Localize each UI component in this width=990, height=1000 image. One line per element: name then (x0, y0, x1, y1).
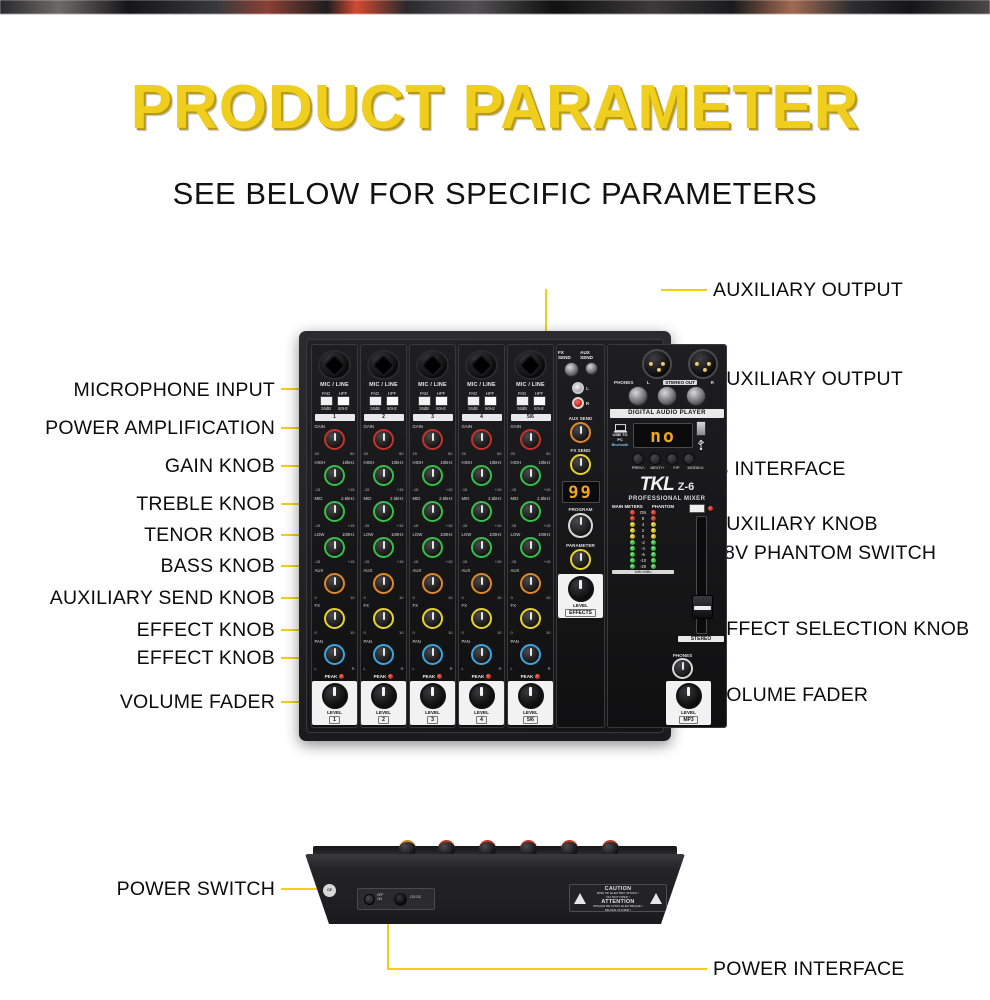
fx-max: 10 (350, 630, 354, 635)
xlr-output-left[interactable] (642, 349, 672, 379)
combo-jack-icon[interactable] (465, 350, 498, 380)
pad-hpf-buttons[interactable]: PAD26dB HPF80Hz (368, 391, 399, 411)
peak-label: PEAK (325, 674, 338, 679)
callout-effect-knob-1: EFFECT KNOB (30, 619, 275, 642)
meter-led-icon (630, 540, 635, 545)
pad-hpf-buttons[interactable]: PAD 26dB HPF 80Hz (319, 391, 350, 411)
meter-row: 0 (612, 534, 674, 539)
gain-label: GAIN (315, 424, 326, 429)
player-display: no (633, 423, 693, 448)
pan-label: PAN (315, 639, 324, 644)
product-parameter-page: PRODUCT PARAMETER SEE BELOW FOR SPECIFIC… (0, 0, 990, 1000)
high-eq-knob[interactable] (471, 465, 492, 486)
meter-led-icon (630, 516, 635, 521)
meter-led-icon (630, 558, 635, 563)
gain-min: 20 (315, 451, 319, 456)
pad-switch[interactable]: PAD26dB (515, 391, 529, 411)
mixer-top-panel[interactable]: MIC / LINE PAD 26dB HPF 80Hz 1 GAIN (299, 331, 671, 741)
level-knob[interactable] (518, 683, 544, 709)
main-meters-label: MAIN METERS (612, 504, 643, 509)
meter-led-icon (630, 534, 635, 539)
next-label: NEXT/+ (649, 465, 666, 470)
meter-led-icon (630, 552, 635, 557)
high-eq-knob[interactable] (324, 465, 345, 486)
mid-eq-knob-wrap[interactable]: MID2.5kHz-15+15 (363, 496, 405, 529)
gain-knob[interactable] (324, 429, 345, 450)
usb-port-icon[interactable] (696, 421, 706, 436)
prev-button[interactable] (632, 453, 644, 465)
parameter-knob[interactable] (570, 549, 591, 570)
gain-knob[interactable] (422, 429, 443, 450)
meter-scale-label: -6 (637, 552, 649, 557)
mid-eq-knob-wrap[interactable]: MID2.5kHz-15+15 (510, 496, 552, 529)
gain-max: 50 (350, 451, 354, 456)
hpf-button-cap[interactable] (435, 396, 448, 406)
aux-send-knob[interactable] (471, 573, 492, 594)
hpf-switch[interactable]: HPF 80Hz (336, 391, 350, 411)
pan-knob[interactable] (373, 644, 394, 665)
meter-row: -4 (612, 546, 674, 551)
meter-led-icon (651, 510, 656, 515)
high-freq: 10kHz (342, 460, 354, 465)
pad-button-cap[interactable] (320, 396, 333, 406)
meter-led-icon (651, 516, 656, 521)
dc-input-label: 12V DC (410, 895, 421, 899)
callout-effect-knob-2: EFFECT KNOB (30, 647, 275, 670)
gain-knob-wrap[interactable]: GAIN2050 (363, 424, 405, 457)
xlr-output-right[interactable] (688, 349, 718, 379)
master-aux-send[interactable]: AUX SEND (569, 416, 593, 443)
send-jack-labels: FX SEND AUX SEND (558, 348, 603, 360)
peak-indicator: PEAK (472, 674, 492, 679)
mid-eq-knob[interactable] (422, 501, 443, 522)
pad-hpf-buttons[interactable]: PAD26dB HPF80Hz (515, 391, 546, 411)
high-eq-knob-wrap[interactable]: HIGH10kHz-15+15 (510, 460, 552, 493)
meter-led-icon (651, 534, 656, 539)
phones-jack[interactable] (628, 386, 648, 406)
callout-auxiliary-output-2: AUXILIARY OUTPUT (713, 368, 903, 391)
fx-knob[interactable] (324, 608, 345, 629)
brand-subtitle: PROFESSIONAL MIXER (610, 496, 724, 502)
callout-treble-knob: TREBLE KNOB (30, 493, 275, 516)
callout-volume-fader-left: VOLUME FADER (30, 691, 275, 714)
program-selector-knob[interactable] (568, 513, 593, 538)
low-eq-knob[interactable] (324, 537, 345, 558)
high-eq-knob[interactable] (373, 465, 394, 486)
aux-send-knob[interactable] (520, 573, 541, 594)
mid-eq-knob[interactable] (373, 501, 394, 522)
meter-led-icon (630, 522, 635, 527)
meter-led-icon (651, 522, 656, 527)
gain-knob[interactable] (471, 429, 492, 450)
meter-row: -10 (612, 558, 674, 563)
pad-switch[interactable]: PAD26dB (417, 391, 431, 411)
power-on-label: ON (377, 897, 383, 901)
level-fader-3[interactable]: LEVEL3 (410, 681, 455, 725)
usb-symbol-icon (696, 438, 706, 450)
fx-knob-wrap[interactable]: FX010 (510, 603, 552, 636)
low-eq-knob[interactable] (422, 537, 443, 558)
level-fader-2[interactable]: LEVEL2 (361, 681, 406, 725)
meter-led-icon (630, 510, 635, 515)
meter-scale-label: 4 (637, 522, 649, 527)
meter-led-icon (651, 552, 656, 557)
pan-knob[interactable] (324, 644, 345, 665)
meter-scale-label: -10 (637, 558, 649, 563)
stereo-out-left-jack[interactable] (657, 386, 677, 406)
peak-indicator: PEAK (423, 674, 443, 679)
master-fx-send[interactable]: FX SEND (570, 448, 591, 475)
stereo-out-right-jack[interactable] (686, 386, 706, 406)
combo-jack-icon[interactable] (318, 350, 351, 380)
next-button[interactable] (649, 453, 661, 465)
sends-column[interactable]: FX SEND AUX SEND L R AUX SEND (556, 344, 605, 728)
gain-knob[interactable] (373, 429, 394, 450)
bluetooth-label: Bluetooth (612, 443, 629, 447)
effect-program-display: 99 (562, 481, 600, 503)
low-min: -15 (315, 559, 321, 564)
mode-button[interactable] (683, 453, 695, 465)
master-aux-send-knob[interactable] (570, 422, 591, 443)
pan-knob[interactable] (471, 644, 492, 665)
program-label: PROGRAM (569, 507, 593, 512)
level-knob[interactable] (676, 683, 702, 709)
gain-knob-wrap[interactable]: GAIN2050 (412, 424, 454, 457)
fx-send-label: FX SEND (558, 350, 577, 360)
level-strip-name: MP3 (679, 716, 697, 724)
fx-knob-wrap[interactable]: FX 010 (314, 603, 356, 636)
phantom-switch[interactable] (678, 504, 724, 513)
usb-to-pc[interactable]: USB TO PC Bluetooth (610, 424, 630, 446)
stereo-fader-cap[interactable] (692, 595, 713, 619)
level-fader-1[interactable]: LEVEL 1 (312, 681, 357, 725)
brand-block: TKL Z-6 (610, 474, 724, 496)
fp-label: F/P (668, 465, 685, 470)
low-eq-knob[interactable] (520, 537, 541, 558)
phones-knob-group[interactable]: PHONES (672, 653, 693, 679)
pan-knob[interactable] (520, 644, 541, 665)
meter-scale-label: 2 (637, 528, 649, 533)
aux-knob-wrap[interactable]: AUX010 (461, 568, 503, 601)
mid-eq-knob-wrap[interactable]: MID2.5kHz-15+15 (412, 496, 454, 529)
aux-knob-wrap[interactable]: AUX010 (412, 568, 454, 601)
hpf-button-cap[interactable] (386, 396, 399, 406)
channel-strip-2[interactable]: MIC / LINE PAD26dB HPF80Hz 2 GAIN2050 HI… (360, 344, 407, 728)
pad-switch[interactable]: PAD26dB (368, 391, 382, 411)
pan-knob[interactable] (422, 644, 443, 665)
high-eq-knob-wrap[interactable]: HIGH10kHz-15+15 (412, 460, 454, 493)
master-fx-send-knob[interactable] (570, 454, 591, 475)
low-freq: 100Hz (342, 532, 354, 537)
level-strip-name: 5/6 (523, 716, 538, 724)
meter-scale-label: 8 (637, 516, 649, 521)
high-eq-knob-wrap[interactable]: HIGH10kHz -15+15 (314, 460, 356, 493)
rear-panel-body: CE OFF ON 12V DC CAUTION RISK OF ELECTRI… (305, 854, 685, 924)
low-eq-knob-wrap[interactable]: LOW100Hz-15+15 (510, 532, 552, 565)
mp3-level-fader[interactable]: LEVEL MP3 (666, 681, 711, 725)
attention-line2: NE PAS OUVRIR ! (570, 909, 666, 913)
channel-strip-4[interactable]: MIC / LINE PAD26dB HPF80Hz 4 GAIN2050 HI… (458, 344, 505, 728)
prev-label: PREV/- (630, 465, 647, 470)
aux-knob-wrap[interactable]: AUX010 (510, 568, 552, 601)
fx-knob[interactable] (373, 608, 394, 629)
level-knob[interactable] (420, 683, 446, 709)
mid-eq-knob[interactable] (520, 501, 541, 522)
warning-triangle-icon (650, 893, 662, 904)
brand-logo: TKL (640, 474, 674, 496)
combo-jack-icon[interactable] (514, 350, 547, 380)
high-min: -15 (315, 487, 321, 492)
stereo-fader-track[interactable] (696, 516, 707, 634)
aux-send-knob[interactable] (422, 573, 443, 594)
callout-effect-selection-knob: EFFECT SELECTION KNOB (713, 618, 969, 641)
phones-knob[interactable] (672, 658, 693, 679)
callout-power-amplification: POWER AMPLIFICATION (10, 417, 275, 440)
level-knob[interactable] (469, 683, 495, 709)
meter-led-icon (651, 540, 656, 545)
callout-microphone-input: MICROPHONE INPUT (20, 379, 275, 402)
gain-knob-wrap[interactable]: GAIN2050 (461, 424, 503, 457)
power-plate[interactable]: OFF ON 12V DC (357, 888, 435, 910)
pad-button-cap[interactable] (369, 396, 382, 406)
mode-label: MODE/U (687, 465, 704, 470)
low-eq-knob[interactable] (471, 537, 492, 558)
high-eq-knob-wrap[interactable]: HIGH10kHz-15+15 (461, 460, 503, 493)
gain-knob-wrap[interactable]: GAIN 2050 (314, 424, 356, 457)
callout-tenor-knob: TENOR KNOB (30, 524, 275, 547)
meter-led-icon (651, 558, 656, 563)
mid-max: +15 (348, 523, 355, 528)
channel-number: 2 (364, 414, 404, 421)
aux-send-knob[interactable] (324, 573, 345, 594)
fx-knob-wrap[interactable]: FX010 (461, 603, 503, 636)
low-eq-knob-wrap[interactable]: LOW100Hz-15+15 (412, 532, 454, 565)
fx-knob-wrap[interactable]: FX010 (363, 603, 405, 636)
level-fader-4[interactable]: LEVEL4 (459, 681, 504, 725)
pad-hpf-buttons[interactable]: PAD26dB HPF80Hz (466, 391, 497, 411)
phantom-switch-cap[interactable] (689, 504, 705, 513)
rca-right-jack[interactable] (572, 397, 584, 409)
meter-row: 8 (612, 516, 674, 521)
impedance-label: 3dB=0dBu (612, 570, 674, 574)
meter-row: 4 (612, 522, 674, 527)
warning-triangle-icon (574, 893, 586, 904)
combo-jack-icon[interactable] (416, 350, 449, 380)
channel-number: 4 (462, 414, 502, 421)
peak-indicator: PEAK (521, 674, 541, 679)
aux-knob-wrap[interactable]: AUX010 (363, 568, 405, 601)
level-strip-name: 2 (378, 716, 389, 724)
hpf-button-cap[interactable] (533, 396, 546, 406)
meter-scale-label: -2 (637, 540, 649, 545)
meter-led-icon (630, 564, 635, 569)
pad-switch[interactable]: PAD 26dB (319, 391, 333, 411)
fp-button[interactable] (666, 453, 678, 465)
low-eq-knob[interactable] (373, 537, 394, 558)
rca-right-label: R (586, 401, 589, 406)
aux-send-jack[interactable] (585, 362, 598, 375)
model-name: Z-6 (678, 481, 695, 493)
high-label: HIGH (315, 460, 326, 465)
hpf-button-cap[interactable] (337, 396, 350, 406)
main-meters: MAIN METERS PHANTOM ON 8420-2-4-6-10-20 … (612, 504, 674, 642)
mic-line-label: MIC / LINE (418, 382, 447, 388)
page-title: PRODUCT PARAMETER (0, 72, 990, 143)
mid-freq: 2.5kHz (341, 496, 354, 501)
leader-power-interface-h (387, 968, 707, 970)
meter-led-icon (651, 546, 656, 551)
pad-switch[interactable]: PAD26dB (466, 391, 480, 411)
pad-button-cap[interactable] (516, 396, 529, 406)
peak-led-icon (437, 674, 442, 679)
high-eq-knob[interactable] (422, 465, 443, 486)
meter-scale-label: -4 (637, 546, 649, 551)
hpf-switch[interactable]: HPF80Hz (434, 391, 448, 411)
xlr-left-label: L (647, 380, 650, 385)
aux-send-knob[interactable] (373, 573, 394, 594)
low-eq-knob-wrap[interactable]: LOW100Hz-15+15 (363, 532, 405, 565)
callout-phantom-switch: 48V PHANTOM SWITCH (713, 542, 936, 565)
rca-left-jack[interactable] (572, 382, 584, 394)
meter-led-icon (651, 564, 656, 569)
ce-mark-icon: CE (323, 884, 336, 897)
low-max: +15 (348, 559, 355, 564)
aux-label: AUX (315, 568, 324, 573)
mic-line-label: MIC / LINE (516, 382, 545, 388)
fx-knob[interactable] (422, 608, 443, 629)
mic-line-label: MIC / LINE (320, 382, 349, 388)
rca-left-label: L (586, 386, 589, 391)
pan-min: L (315, 666, 317, 671)
meter-led-icon (651, 528, 656, 533)
peak-led-icon (388, 674, 393, 679)
aux-knob-wrap[interactable]: AUX 010 (314, 568, 356, 601)
high-eq-knob-wrap[interactable]: HIGH10kHz-15+15 (363, 460, 405, 493)
phones-label: PHONES (614, 380, 633, 385)
mic-line-label: MIC / LINE (467, 382, 496, 388)
phantom-led-icon (708, 506, 713, 511)
combo-jack-icon[interactable] (367, 350, 400, 380)
level-strip-name: 3 (427, 716, 438, 724)
meter-row: -20 (612, 564, 674, 569)
digital-audio-player-title: DIGITAL AUDIO PLAYER (610, 409, 724, 418)
level-fader-5-6[interactable]: LEVEL5/6 (508, 681, 553, 725)
hpf-button-cap[interactable] (484, 396, 497, 406)
fx-knob[interactable] (471, 608, 492, 629)
power-switch-labels: OFF ON (377, 893, 383, 901)
pan-knob-wrap[interactable]: PANLR (412, 639, 454, 672)
low-eq-knob-wrap[interactable]: LOW100Hz-15+15 (461, 532, 503, 565)
fx-send-jack[interactable] (564, 362, 579, 377)
fx-knob-wrap[interactable]: FX010 (412, 603, 454, 636)
usb-port-group[interactable] (696, 421, 706, 450)
channel-number: 3 (413, 414, 453, 421)
gain-knob-wrap[interactable]: GAIN2050 (510, 424, 552, 457)
level-label: LEVEL (327, 710, 342, 715)
meter-row: 2 (612, 528, 674, 533)
channel-strip-1[interactable]: MIC / LINE PAD 26dB HPF 80Hz 1 GAIN (311, 344, 358, 728)
meter-led-icon (630, 546, 635, 551)
peak-indicator: PEAK (325, 674, 345, 679)
callout-auxiliary-output-1: AUXILIARY OUTPUT (713, 279, 903, 302)
page-subtitle: SEE BELOW FOR SPECIFIC PARAMETERS (0, 176, 990, 212)
usb-to-pc-label: USB TO PC (610, 433, 630, 442)
channel-strip-5-6[interactable]: MIC / LINE PAD26dB HPF80Hz 5/6 GAIN2050 … (507, 344, 554, 728)
dc-power-jack[interactable] (394, 893, 407, 906)
gain-knob[interactable] (520, 429, 541, 450)
meter-rows: 8420-2-4-6-10-20 (612, 516, 674, 569)
mic-line-label: MIC / LINE (369, 382, 398, 388)
mid-eq-knob[interactable] (324, 501, 345, 522)
phantom-label: PHANTOM (652, 504, 674, 509)
caution-label: CAUTION RISK OF ELECTRIC SHOCK ! DO NOT … (569, 884, 667, 912)
stereo-out-label: STEREO OUT (663, 380, 697, 385)
mid-min: -15 (315, 523, 321, 528)
hpf-switch[interactable]: HPF80Hz (532, 391, 546, 411)
callout-power-interface: POWER INTERFACE (713, 958, 905, 981)
power-switch-toggle[interactable] (364, 894, 375, 905)
meter-scale-label: 0 (637, 534, 649, 539)
aux-send-label: AUX SEND (580, 350, 603, 360)
pad-hpf-buttons[interactable]: PAD26dB HPF80Hz (417, 391, 448, 411)
fx-min: 0 (315, 630, 317, 635)
callout-auxiliary-send-knob: AUXILIARY SEND KNOB (0, 587, 275, 610)
meter-row-on: ON (612, 510, 674, 515)
pan-knob-wrap[interactable]: PAN LR (314, 639, 356, 672)
peak-led-icon (339, 674, 344, 679)
meter-row: -2 (612, 540, 674, 545)
low-eq-knob-wrap[interactable]: LOW100Hz -15+15 (314, 532, 356, 565)
mid-eq-knob[interactable] (471, 501, 492, 522)
mixer-rear-panel[interactable]: CE OFF ON 12V DC CAUTION RISK OF ELECTRI… (305, 840, 685, 938)
callout-power-switch: POWER SWITCH (30, 878, 275, 901)
callout-auxiliary-knob: AUXILIARY KNOB (713, 513, 878, 536)
aux-min: 0 (315, 595, 317, 600)
transport-buttons[interactable] (632, 453, 724, 465)
leader-auxiliary-output-1 (661, 289, 707, 291)
pan-max: R (352, 666, 355, 671)
pad-button-cap[interactable] (418, 396, 431, 406)
pan-knob-wrap[interactable]: PANLR (461, 639, 503, 672)
peak-indicator: PEAK (374, 674, 394, 679)
channel-strip-3[interactable]: MIC / LINE PAD26dB HPF80Hz 3 GAIN2050 HI… (409, 344, 456, 728)
phantom-and-fader[interactable]: STEREO (678, 504, 724, 642)
peak-led-icon (535, 674, 540, 679)
level-knob[interactable] (322, 683, 348, 709)
meter-led-icon (630, 528, 635, 533)
level-knob[interactable] (371, 683, 397, 709)
master-aux-send-label: AUX SEND (569, 416, 593, 421)
channel-number: 1 (315, 414, 355, 421)
level-knob[interactable] (568, 576, 594, 602)
meter-row: -6 (612, 552, 674, 557)
mid-eq-knob-wrap[interactable]: MID2.5kHz -15+15 (314, 496, 356, 529)
hpf-switch[interactable]: HPF80Hz (385, 391, 399, 411)
high-eq-knob[interactable] (520, 465, 541, 486)
pad-button-cap[interactable] (467, 396, 480, 406)
hpf-switch[interactable]: HPF80Hz (483, 391, 497, 411)
pan-knob-wrap[interactable]: PANLR (363, 639, 405, 672)
fx-knob[interactable] (520, 608, 541, 629)
master-section[interactable]: PHONES L STEREO OUT R DIGITAL AUDIO PLAY… (607, 344, 727, 728)
effects-level-fader[interactable]: LEVEL EFFECTS (558, 574, 603, 618)
low-label: LOW (315, 532, 325, 537)
peak-led-icon (486, 674, 491, 679)
mid-eq-knob-wrap[interactable]: MID2.5kHz-15+15 (461, 496, 503, 529)
fx-label: FX (315, 603, 321, 608)
pan-knob-wrap[interactable]: PANLR (510, 639, 552, 672)
aux-max: 10 (350, 595, 354, 600)
